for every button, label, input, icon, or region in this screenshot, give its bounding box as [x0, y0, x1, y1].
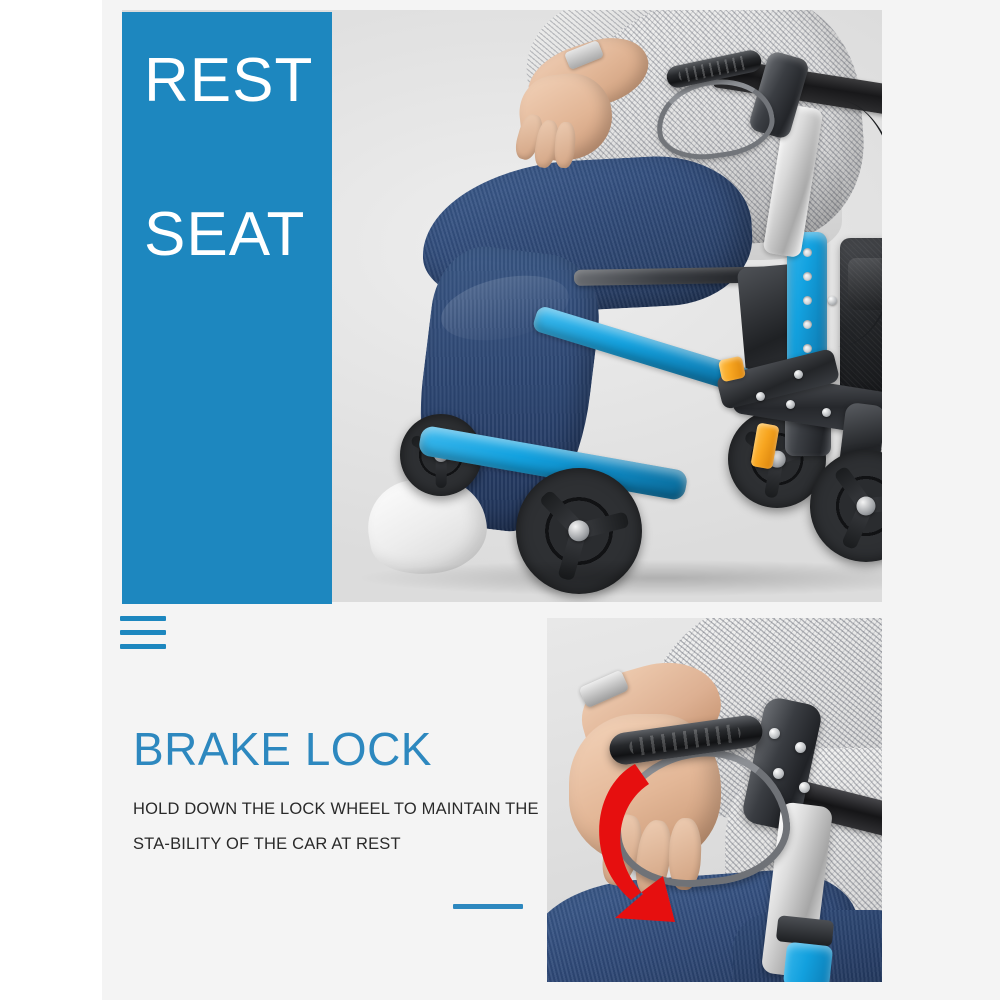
brake-detail-photo: [547, 618, 882, 982]
floor-shadow: [362, 560, 882, 596]
feature-body-text: HOLD DOWN THE LOCK WHEEL TO MAINTAIN THE…: [133, 792, 541, 862]
hero-title-line-2: SEAT: [144, 204, 305, 266]
feature-headline: BRAKE LOCK: [133, 726, 432, 772]
detail-frame-tube-blue: [783, 942, 833, 982]
infographic-page: REST SEAT BRAKE LOCK HOLD DOWN THE LOCK …: [0, 0, 1000, 1000]
wheel-hub: [856, 496, 875, 515]
hero-title-line-1: REST: [144, 50, 313, 112]
hamburger-bar: [120, 616, 166, 621]
hero-title-panel: REST SEAT: [122, 12, 332, 604]
hamburger-bar: [120, 644, 166, 649]
hamburger-bar: [120, 630, 166, 635]
hamburger-icon[interactable]: [120, 616, 166, 654]
accent-rule: [453, 904, 523, 909]
rotation-arrow-icon: [571, 754, 761, 934]
